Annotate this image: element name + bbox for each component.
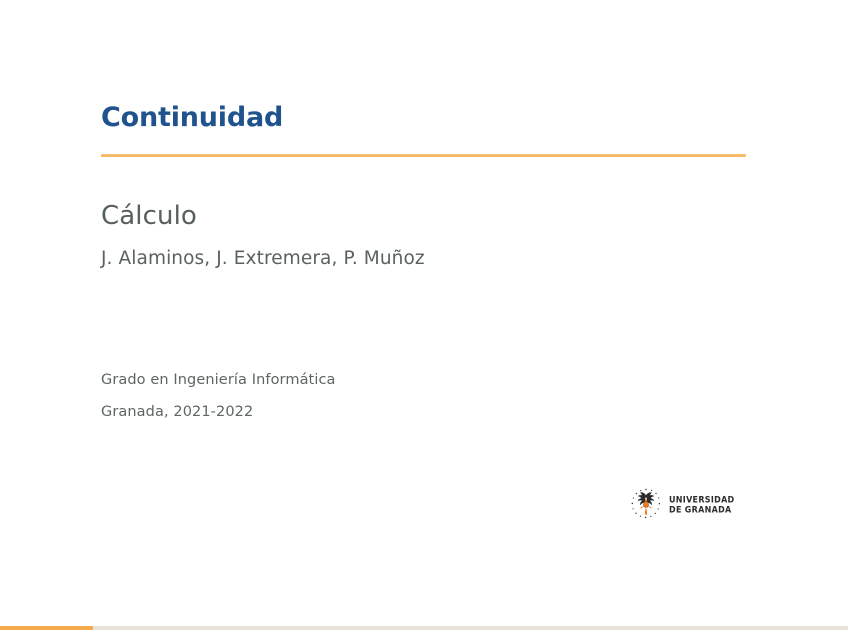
slide-subtitle: Cálculo	[101, 202, 761, 232]
logo-line-1: UNIVERSIDAD	[669, 495, 735, 504]
presentation-slide: Continuidad Cálculo J. Alaminos, J. Extr…	[0, 0, 848, 635]
institute-block: Grado en Ingeniería Informática Granada,…	[101, 372, 761, 422]
eagle-crest-icon	[629, 487, 663, 521]
university-logo: UNIVERSIDAD DE GRANADA	[629, 487, 759, 521]
slide-authors: J. Alaminos, J. Extremera, P. Muñoz	[101, 248, 761, 270]
logo-wordmark: UNIVERSIDAD DE GRANADA	[669, 495, 735, 514]
title-block: Continuidad	[101, 103, 746, 157]
title-divider	[101, 154, 746, 157]
logo-line-2: DE GRANADA	[669, 505, 735, 514]
slide-institute: Grado en Ingeniería Informática	[101, 372, 761, 389]
subtitle-block: Cálculo J. Alaminos, J. Extremera, P. Mu…	[101, 202, 761, 270]
page-title: Continuidad	[101, 103, 746, 133]
slide-progress-fill	[0, 626, 93, 630]
slide-date: Granada, 2021-2022	[101, 404, 761, 421]
slide-progress-bar	[0, 626, 848, 630]
